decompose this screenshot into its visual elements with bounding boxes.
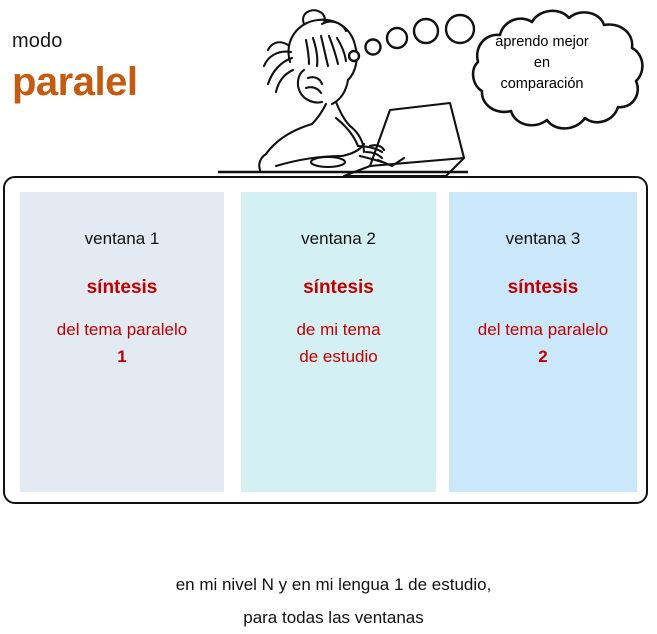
header-area: modo paralel (0, 0, 657, 176)
window-columns: ventana 1 síntesis del tema paralelo 1 v… (20, 192, 637, 492)
window-label-3: ventana 3 (449, 228, 637, 250)
thought-line-2: en (534, 55, 550, 71)
thought-bubble-text: aprendo mejor en comparación (462, 32, 622, 95)
parallel-mode-panel: ventana 1 síntesis del tema paralelo 1 v… (3, 176, 648, 504)
title-block: modo paralel (12, 28, 222, 106)
window-label-1: ventana 1 (20, 228, 224, 250)
window-column-1: ventana 1 síntesis del tema paralelo 1 (20, 192, 224, 492)
synthesis-desc-line2-1: 1 (117, 347, 126, 366)
synthesis-desc-line2-2: de estudio (299, 347, 377, 366)
synthesis-title-3: síntesis (449, 276, 637, 300)
title-modo: modo (12, 28, 222, 54)
panel-caption: en mi nivel N y en mi lengua 1 de estudi… (20, 568, 647, 634)
window-column-2: ventana 2 síntesis de mi tema de estudio (241, 192, 436, 492)
window-label-2: ventana 2 (241, 228, 436, 250)
synthesis-desc-line1-2: de mi tema (296, 320, 380, 339)
synthesis-title-2: síntesis (241, 276, 436, 300)
synthesis-desc-line1-1: del tema paralelo (57, 320, 187, 339)
synthesis-desc-line1-3: del tema paralelo (478, 320, 608, 339)
thought-line-3: comparación (500, 76, 583, 92)
caption-line-1: en mi nivel N y en mi lengua 1 de estudi… (20, 568, 647, 601)
synthesis-desc-line2-3: 2 (538, 347, 547, 366)
synthesis-description-1: del tema paralelo 1 (20, 316, 224, 370)
synthesis-description-2: de mi tema de estudio (241, 316, 436, 370)
caption-line-2: para todas las ventanas (20, 601, 647, 634)
synthesis-title-1: síntesis (20, 276, 224, 300)
synthesis-description-3: del tema paralelo 2 (449, 316, 637, 370)
window-column-3: ventana 3 síntesis del tema paralelo 2 (449, 192, 637, 492)
title-paralel: paralel (12, 58, 222, 106)
thought-line-1: aprendo mejor (495, 34, 589, 50)
